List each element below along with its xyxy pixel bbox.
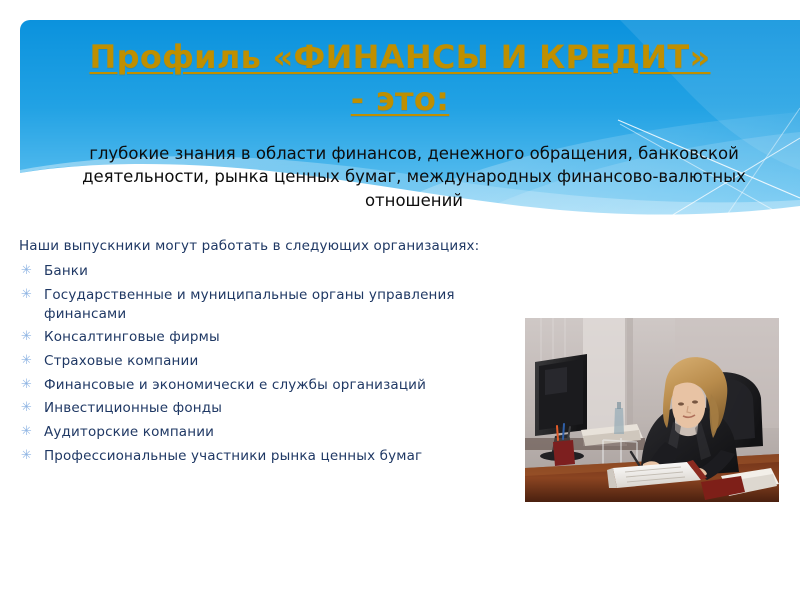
intro-line: Наши выпускники могут работать в следующ… (19, 238, 479, 254)
list-item: ✳ Инвестиционные фонды (19, 399, 519, 418)
list-item-label: Инвестиционные фонды (44, 399, 514, 418)
list-item: ✳ Финансовые и экономически е службы орг… (19, 376, 519, 395)
list-item-label: Банки (44, 262, 514, 281)
slide-subtitle: глубокие знания в области финансов, дене… (64, 142, 764, 212)
list-item-label: Государственные и муниципальные органы у… (44, 286, 514, 324)
asterisk-bullet-icon: ✳ (21, 328, 32, 346)
office-photo (525, 318, 779, 502)
list-item-label: Консалтинговые фирмы (44, 328, 514, 347)
asterisk-bullet-icon: ✳ (21, 423, 32, 441)
list-item: ✳ Профессиональные участники рынка ценны… (19, 447, 519, 466)
list-item: ✳ Банки (19, 262, 519, 281)
list-item: ✳ Консалтинговые фирмы (19, 328, 519, 347)
asterisk-bullet-icon: ✳ (21, 262, 32, 280)
slide-title: Профиль «ФИНАНСЫ И КРЕДИТ» - это: (80, 36, 720, 120)
asterisk-bullet-icon: ✳ (21, 447, 32, 465)
list-item-label: Финансовые и экономически е службы орган… (44, 376, 514, 395)
asterisk-bullet-icon: ✳ (21, 399, 32, 417)
header-banner: Профиль «ФИНАНСЫ И КРЕДИТ» - это: глубок… (20, 20, 800, 225)
list-item: ✳ Аудиторские компании (19, 423, 519, 442)
office-photo-illustration (525, 318, 779, 502)
list-item: ✳ Страховые компании (19, 352, 519, 371)
header-text-block: Профиль «ФИНАНСЫ И КРЕДИТ» - это: глубок… (20, 20, 800, 225)
list-item-label: Профессиональные участники рынка ценных … (44, 447, 514, 466)
list-item-label: Страховые компании (44, 352, 514, 371)
asterisk-bullet-icon: ✳ (21, 376, 32, 394)
list-item-label: Аудиторские компании (44, 423, 514, 442)
employers-bullet-list: ✳ Банки ✳ Государственные и муниципальны… (19, 262, 519, 470)
list-item: ✳ Государственные и муниципальные органы… (19, 286, 519, 324)
asterisk-bullet-icon: ✳ (21, 286, 32, 304)
asterisk-bullet-icon: ✳ (21, 352, 32, 370)
